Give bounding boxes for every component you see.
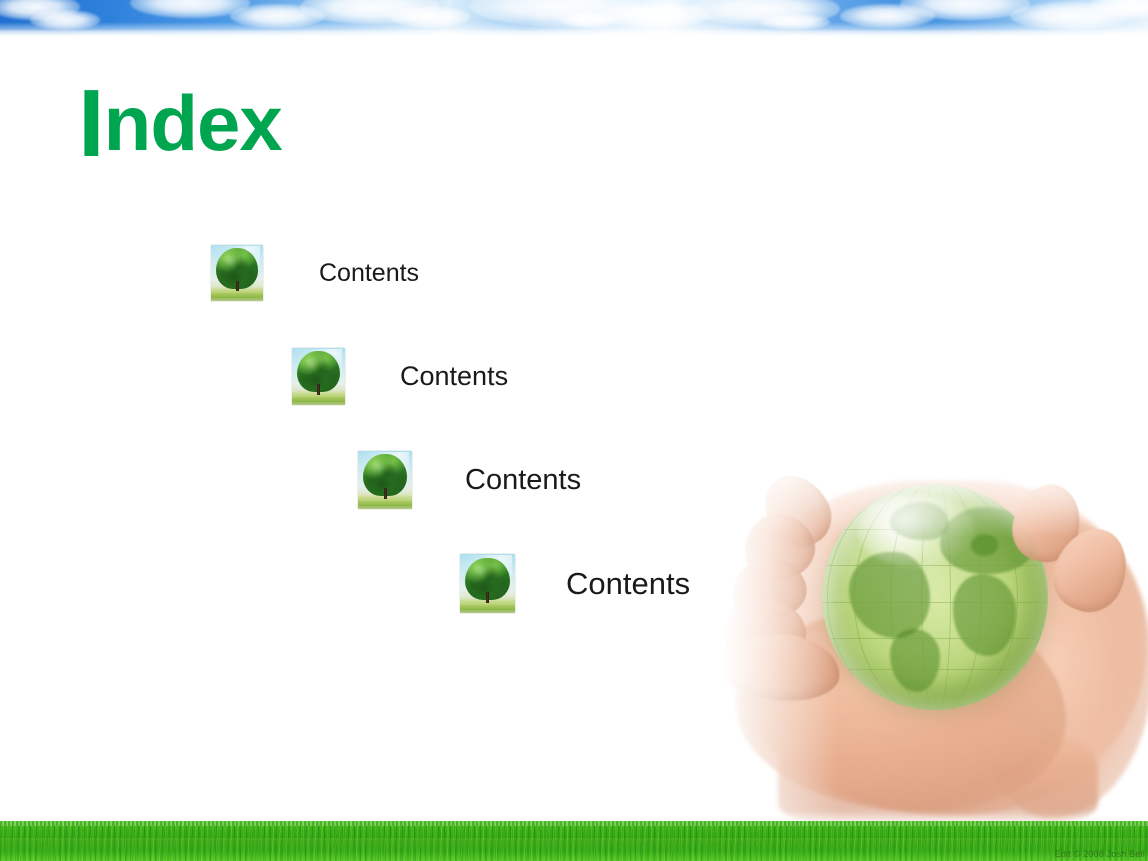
photo-credit: Edit © 2008 Josh Bell (1055, 849, 1145, 860)
list-item[interactable]: Contents (358, 451, 581, 509)
tree-icon-ground (292, 395, 345, 405)
tree-icon (211, 245, 263, 301)
list-item-label: Contents (400, 361, 508, 392)
sky-banner (0, 0, 1148, 38)
slide-canvas: Index Contents Contents Contents (0, 0, 1148, 861)
hands-holding-globe-photo (718, 466, 1148, 823)
cloud-shape (30, 10, 100, 30)
tree-icon-ground (358, 499, 412, 509)
list-item-label: Contents (319, 259, 419, 288)
page-title: Index (78, 76, 282, 172)
page-title-rest: ndex (104, 79, 282, 167)
tree-icon-ground (211, 291, 263, 301)
tree-icon (292, 348, 345, 405)
grass-highlight (0, 838, 1148, 850)
cloud-shape (560, 12, 620, 28)
tree-icon (358, 451, 412, 509)
cloud-shape (760, 14, 830, 30)
list-item[interactable]: Contents (292, 348, 508, 405)
list-item-label: Contents (465, 464, 581, 497)
list-item[interactable]: Contents (460, 554, 690, 613)
sky-fade-edge (0, 30, 1148, 38)
tree-icon-ground (460, 603, 515, 613)
grass-top-edge (0, 821, 1148, 826)
tree-icon (460, 554, 515, 613)
page-title-initial: I (78, 70, 104, 177)
list-item-label: Contents (566, 566, 690, 602)
list-item[interactable]: Contents (211, 245, 419, 301)
cloud-shape (390, 6, 470, 28)
grass-banner: Edit © 2008 Josh Bell (0, 821, 1148, 861)
